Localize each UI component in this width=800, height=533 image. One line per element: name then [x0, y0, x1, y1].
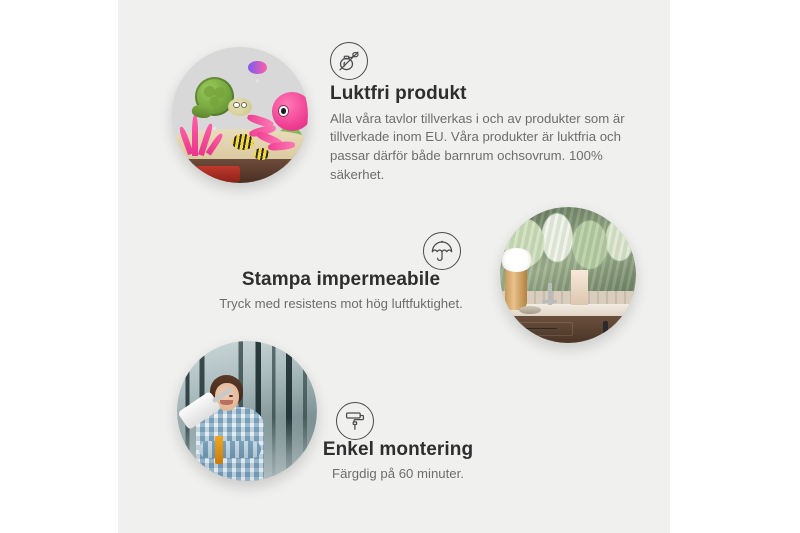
woman-crossed-arms — [199, 441, 261, 458]
infographic-canvas: Luktfri produkt Alla våra tavlor tillver… — [0, 0, 800, 533]
paint-roller-icon — [336, 402, 374, 440]
bathroom-botanical-wallpaper-photo — [500, 207, 636, 343]
umbrella-icon — [423, 232, 461, 270]
underwater-kids-scene-photo — [172, 47, 308, 183]
bathroom-faucet — [548, 283, 552, 305]
feature-heading-easy-install: Enkel montering — [288, 438, 508, 462]
underwater-fish — [254, 148, 269, 160]
feature-heading-no-odor: Luktfri produkt — [330, 82, 626, 106]
bathroom-tissue-box — [571, 270, 589, 305]
feature-body-no-odor: Alla våra tavlor tillverkas i och av pro… — [330, 110, 626, 185]
feature-heading-waterproof: Stampa impermeabile — [196, 268, 486, 292]
feature-text-waterproof: Stampa impermeabile Tryck med resistens … — [196, 268, 486, 313]
feature-text-no-odor: Luktfri produkt Alla våra tavlor tillver… — [330, 82, 626, 185]
underwater-fish — [232, 134, 254, 150]
photo-inner — [172, 47, 308, 183]
underwater-turtle — [191, 74, 251, 123]
photo-inner — [500, 207, 636, 343]
underwater-seafloor — [172, 159, 308, 183]
no-odor-spray-bottle-icon — [330, 42, 368, 80]
bathroom-vase — [505, 267, 527, 311]
forest-woman — [191, 375, 272, 481]
underwater-octopus — [248, 88, 308, 151]
feature-body-easy-install: Färgdig på 60 minuter. — [288, 465, 508, 484]
feature-text-easy-install: Enkel montering Färgdig på 60 minuter. — [288, 438, 508, 483]
feature-body-waterproof: Tryck med resistens mot hög luftfuktighe… — [196, 295, 486, 314]
bathroom-flowers — [500, 248, 533, 272]
woman-hand-tool — [215, 436, 222, 464]
bathroom-cabinet — [500, 316, 636, 343]
